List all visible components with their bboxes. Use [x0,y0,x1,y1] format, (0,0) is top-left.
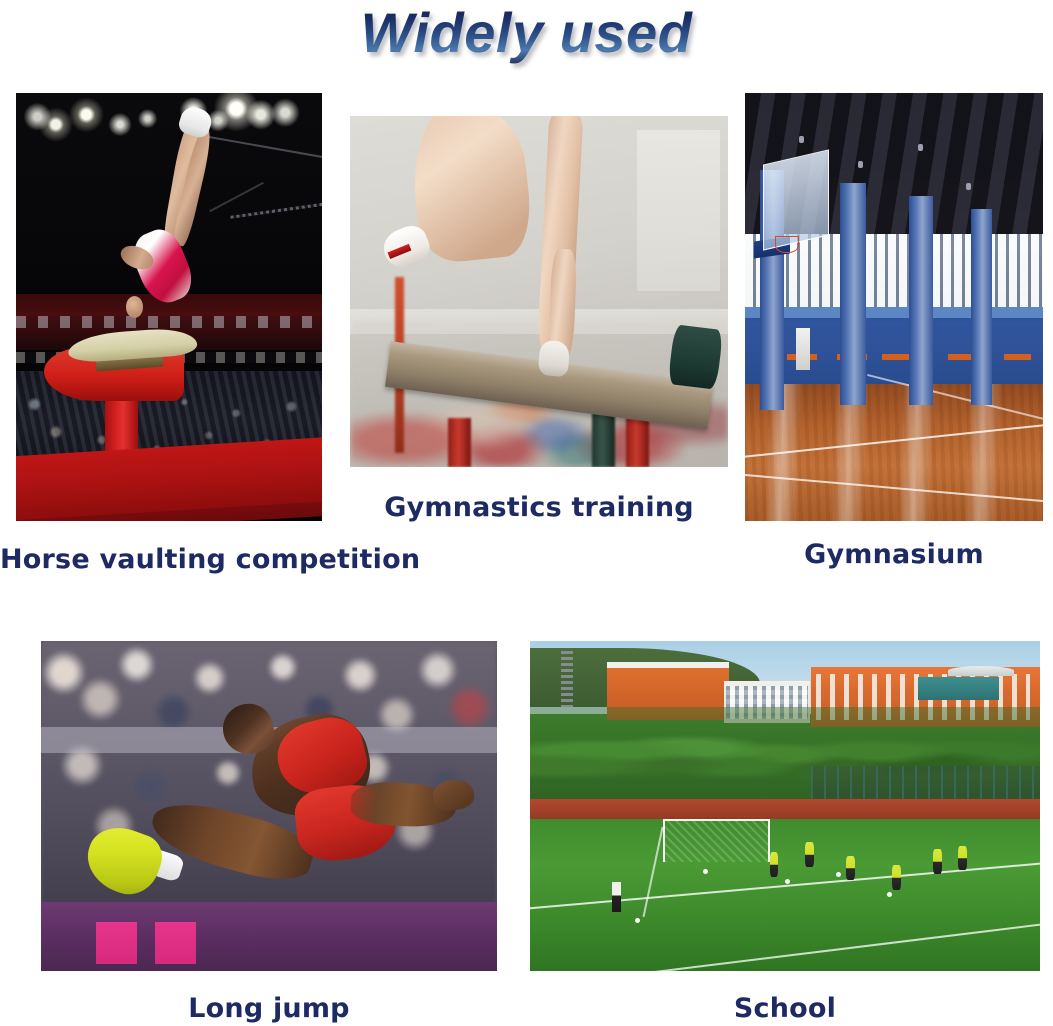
arena-railing-upper [16,316,322,329]
gymnasium-column [909,196,933,406]
widely-used-poster: Widely used Horse vaulting competition [0,0,1053,1026]
soccer-field-turf [530,819,1040,971]
player-figure [770,852,779,877]
page-title: Widely used [0,2,1053,64]
basketball-backboard [763,150,829,251]
photo-school [530,641,1040,971]
balance-beam-end-cap [668,324,724,389]
advertising-sign [96,922,137,965]
school-building-left-roofline [607,662,729,667]
soccer-ball [785,879,790,884]
gymnasium-door [796,328,810,370]
gymnast-standing-foot [538,339,571,377]
photo-gymnastics-training [350,116,728,467]
wall-mat [948,354,975,360]
caption-long-jump: Long jump [41,993,497,1024]
ceiling-lamp [918,144,923,151]
beam-support-right [626,418,649,467]
soccer-ball [887,892,892,897]
player-figure [892,865,901,890]
gymnasium-column [971,209,992,406]
photo-long-jump [41,641,497,971]
gymnast-head [126,296,143,317]
soccer-ball [635,918,640,923]
player-figure [933,849,942,874]
photo-horse-vaulting-competition [16,93,322,521]
caption-gymnastics-training: Gymnastics training [350,492,728,523]
school-building-dome [948,666,1014,676]
player-figure [805,842,814,867]
transmission-tower [561,651,574,707]
beam-support-left [448,418,471,467]
gym-wall-panel [637,130,720,291]
caption-gymnasium: Gymnasium [745,539,1043,570]
soccer-goal [663,819,770,862]
wall-mat [1004,354,1031,360]
advertising-sign [155,922,196,965]
caption-school: School [530,993,1040,1024]
player-figure [958,846,967,871]
soccer-ball [836,872,841,877]
caption-horse-vaulting-competition: Horse vaulting competition [0,544,350,575]
gymnasium-column [840,183,865,406]
player-figure [846,856,855,881]
school-building-glass-facade [918,677,1000,700]
wall-mat [882,354,909,360]
ceiling-lamp [799,136,804,143]
basketball-hoop [775,236,799,253]
coach-figure [612,882,621,912]
ceiling-lamp [966,183,971,190]
photo-gymnasium [745,93,1043,521]
gymnasium-wall-stripe [745,307,1043,318]
beam-support-center [592,411,615,467]
